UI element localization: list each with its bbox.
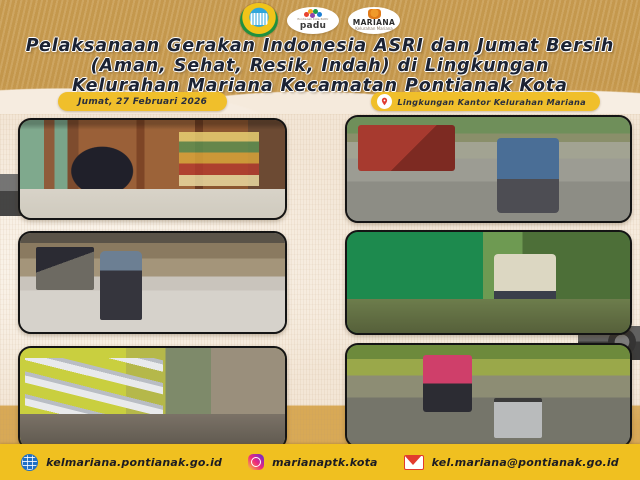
contact-footer: kelmariana.pontianak.go.id marianaptk.ko…	[0, 444, 640, 480]
mariana-logo-sub: Kelurahan Mariana	[355, 27, 393, 31]
location-badge-label: Lingkungan Kantor Kelurahan Mariana	[397, 97, 586, 107]
footer-item-website[interactable]: kelmariana.pontianak.go.id	[21, 454, 222, 471]
badge-row: Jumat, 27 Februari 2026 Lingkungan Kanto…	[0, 92, 640, 114]
globe-icon	[21, 454, 38, 471]
instagram-label: marianaptk.kota	[272, 456, 378, 469]
footer-item-instagram[interactable]: marianaptk.kota	[248, 454, 378, 470]
photo-card-4	[345, 230, 632, 335]
padu-dots-icon	[304, 9, 322, 18]
mariana-logo: MARIANA Kelurahan Mariana	[348, 7, 400, 34]
photo-5-image	[20, 348, 285, 448]
photo-grid	[0, 112, 640, 444]
instagram-icon	[248, 454, 264, 470]
padu-logo: Pontianak Kota PADU padu	[287, 7, 339, 34]
location-badge: Lingkungan Kantor Kelurahan Mariana	[371, 92, 600, 111]
title-line-1: Pelaksanaan Gerakan Indonesia ASRI dan J…	[0, 36, 640, 56]
photo-4-image	[347, 232, 630, 333]
gmail-icon	[404, 455, 424, 470]
photo-1-image	[20, 120, 285, 218]
photo-2-image	[347, 117, 630, 221]
poster-title: Pelaksanaan Gerakan Indonesia ASRI dan J…	[0, 36, 640, 96]
title-line-2: (Aman, Sehat, Resik, Indah) di Lingkunga…	[0, 56, 640, 76]
logo-row: Pontianak Kota PADU padu MARIANA Kelurah…	[0, 2, 640, 38]
date-badge: Jumat, 27 Februari 2026	[58, 92, 227, 111]
map-pin-icon	[377, 94, 392, 109]
photo-card-1	[18, 118, 287, 220]
pkk-emblem-icon	[240, 3, 278, 37]
date-badge-label: Jumat, 27 Februari 2026	[78, 97, 207, 107]
photo-card-3	[18, 231, 287, 334]
email-label: kel.mariana@pontianak.go.id	[432, 456, 619, 469]
photo-card-5	[18, 346, 287, 450]
photo-card-6	[345, 343, 632, 448]
pkk-logo	[240, 3, 278, 37]
footer-item-email[interactable]: kel.mariana@pontianak.go.id	[404, 455, 619, 470]
photo-3-image	[20, 233, 285, 332]
poster-canvas: Pontianak Kota PADU padu MARIANA Kelurah…	[0, 0, 640, 480]
padu-logo-word: padu	[300, 22, 326, 31]
photo-6-image	[347, 345, 630, 446]
website-label: kelmariana.pontianak.go.id	[46, 456, 222, 469]
photo-card-2	[345, 115, 632, 223]
